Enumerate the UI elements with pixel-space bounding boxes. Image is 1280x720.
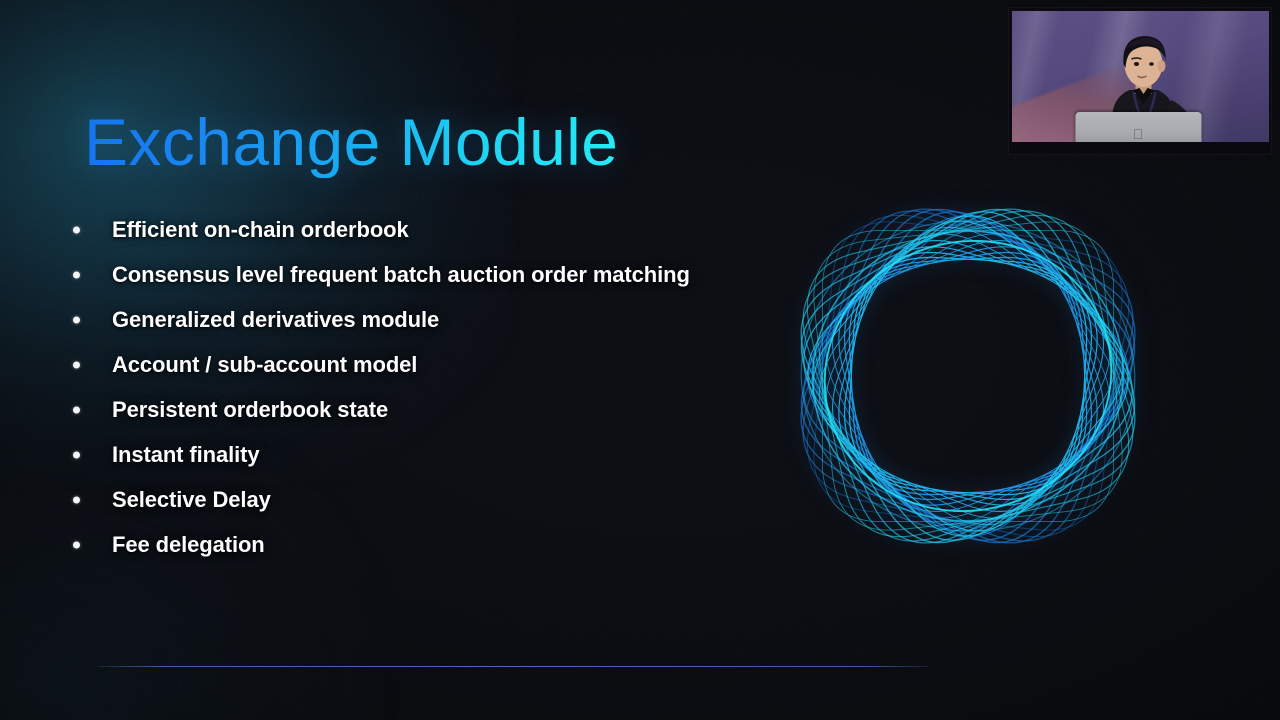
list-item-label: Selective Delay xyxy=(112,487,271,513)
list-item-label: Efficient on-chain orderbook xyxy=(112,217,409,243)
list-item-label: Fee delegation xyxy=(112,532,265,558)
spirograph-ring xyxy=(808,216,1128,536)
spirograph-ring xyxy=(779,187,1157,565)
spirograph-ring xyxy=(808,216,1128,536)
list-item: Instant finality xyxy=(68,432,828,477)
footer-divider xyxy=(98,666,928,667)
list-item: Persistent orderbook state xyxy=(68,387,828,432)
bullet-dot-icon xyxy=(73,271,80,278)
apple-logo-icon:  xyxy=(1133,127,1144,141)
spirograph-ring xyxy=(787,195,1149,557)
list-item: Fee delegation xyxy=(68,522,828,567)
spirograph-ring xyxy=(793,201,1142,550)
page-title: Exchange Module xyxy=(84,108,618,177)
list-item: Account / sub-account model xyxy=(68,342,828,387)
bullet-dot-icon xyxy=(73,361,80,368)
list-item: Selective Delay xyxy=(68,477,828,522)
spirograph-ring xyxy=(793,201,1142,550)
spirograph-ring xyxy=(782,190,1155,563)
spirograph-graphic xyxy=(742,148,1194,608)
spirograph-ring xyxy=(811,219,1124,532)
spirograph-ring xyxy=(779,187,1157,565)
list-item-label: Persistent orderbook state xyxy=(112,397,388,423)
list-item: Efficient on-chain orderbook xyxy=(68,207,828,252)
bullet-dot-icon xyxy=(73,226,80,233)
spirograph-ring xyxy=(787,195,1150,558)
list-item: Consensus level frequent batch auction o… xyxy=(68,252,828,297)
spirograph-ring xyxy=(811,219,1124,532)
video-letterbox-bottom xyxy=(1012,142,1269,150)
speaker-video-overlay[interactable]:  xyxy=(1008,7,1272,155)
spirograph-ring xyxy=(822,230,1114,522)
spirograph-ring xyxy=(787,195,1150,558)
spirograph-highlight-ring xyxy=(786,204,1150,548)
spirograph-ring xyxy=(845,253,1091,499)
bullet-dot-icon xyxy=(73,541,80,548)
spirograph-ring xyxy=(822,230,1114,522)
feature-bullet-list: Efficient on-chain orderbook Consensus l… xyxy=(68,207,828,567)
spirograph-ring xyxy=(822,230,1113,521)
spirograph-ring xyxy=(822,230,1113,521)
slide-canvas: Exchange Module Efficient on-chain order… xyxy=(0,0,1280,720)
spirograph-highlight-ring xyxy=(789,204,1146,548)
video-frame:  xyxy=(1012,11,1269,150)
list-item-label: Instant finality xyxy=(112,442,260,468)
spirograph-ring xyxy=(779,187,1158,566)
list-item-label: Consensus level frequent batch auction o… xyxy=(112,262,690,288)
bullet-dot-icon xyxy=(73,316,80,323)
list-item: Generalized derivatives module xyxy=(68,297,828,342)
list-item-label: Generalized derivatives module xyxy=(112,307,439,333)
spirograph-ring xyxy=(787,195,1149,557)
list-item-label: Account / sub-account model xyxy=(112,352,417,378)
spirograph-ring xyxy=(845,253,1091,499)
bullet-dot-icon xyxy=(73,406,80,413)
spirograph-ring xyxy=(796,204,1140,548)
bullet-dot-icon xyxy=(73,451,80,458)
spirograph-ring xyxy=(779,187,1158,566)
bullet-dot-icon xyxy=(73,496,80,503)
spirograph-ring xyxy=(782,190,1155,563)
